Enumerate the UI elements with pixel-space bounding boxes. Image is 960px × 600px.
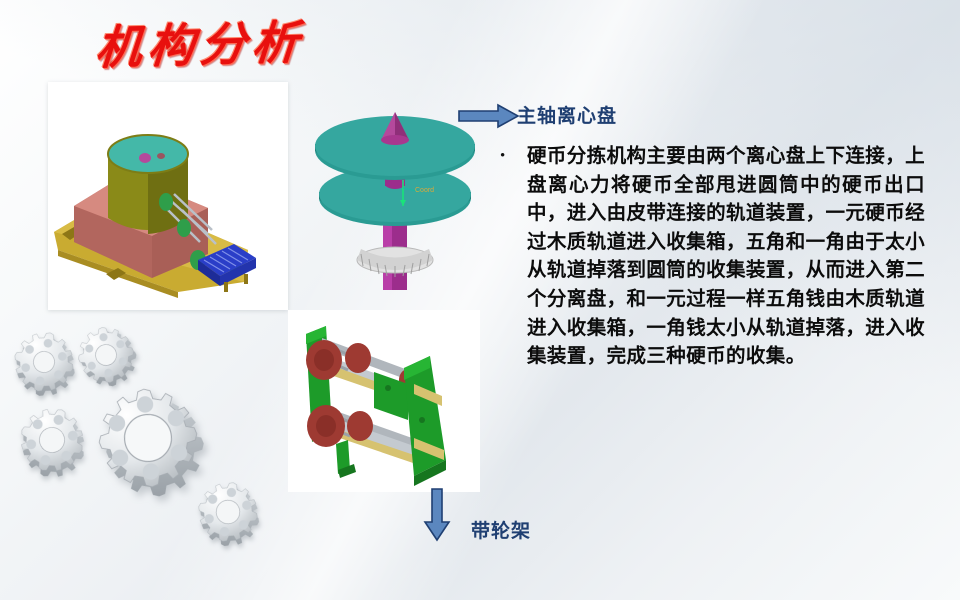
body-paragraph: 硬币分拣机构主要由两个离心盘上下连接，上盘离心力将硬币全部甩进圆筒中的硬币出口中… bbox=[527, 142, 925, 371]
gear-large-center bbox=[95, 384, 208, 501]
disc-bevel-gear bbox=[357, 247, 433, 277]
gear-lower-right bbox=[193, 478, 265, 552]
label-spindle-centrifugal-disc: 主轴离心盘 bbox=[517, 101, 617, 128]
gear-mid-left bbox=[10, 400, 95, 486]
pulley-frame-foot bbox=[336, 440, 356, 478]
label-pulley-frame: 带轮架 bbox=[471, 516, 531, 543]
gear-small-upper-left bbox=[8, 327, 82, 402]
arrow-right-icon bbox=[458, 103, 520, 129]
figure-pulley-frame bbox=[288, 310, 480, 492]
bullet-marker: • bbox=[495, 142, 527, 170]
page-title: 机构分析 bbox=[94, 19, 306, 71]
svg-text:Coord: Coord bbox=[415, 187, 434, 194]
pulley-frame-front-upright bbox=[404, 356, 446, 486]
arrow-down-icon bbox=[422, 488, 452, 542]
decorative-gears-graphic bbox=[0, 300, 290, 580]
gear-small-upper-right bbox=[75, 323, 141, 390]
slide-canvas: 机构分析 bbox=[0, 0, 960, 600]
body-text-block: • 硬币分拣机构主要由两个离心盘上下连接，上盘离心力将硬币全部甩进圆筒中的硬币出… bbox=[495, 142, 955, 371]
figure-coin-sorting-assembly bbox=[48, 82, 288, 310]
